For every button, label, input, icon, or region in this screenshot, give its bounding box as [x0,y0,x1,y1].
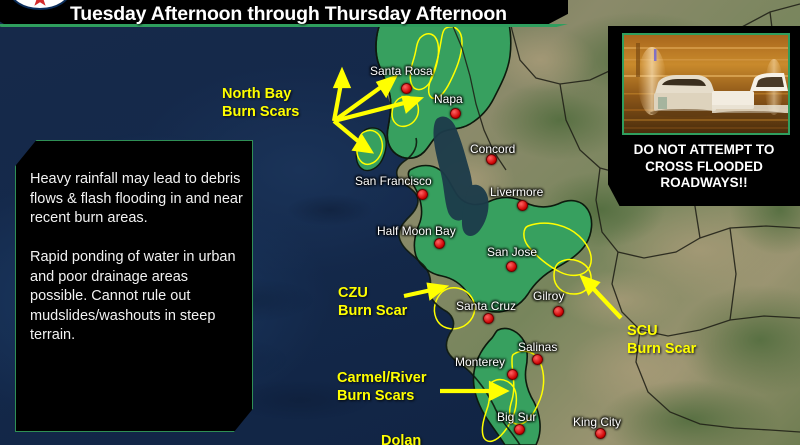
burn-scar-label-dolan: Dolan [381,433,421,445]
city-dot [514,424,525,435]
burn-scar-label-line1: CZU [338,284,407,302]
burn-scar-label-line2: Burn Scars [337,387,426,405]
city-dot [483,313,494,324]
city-label-san-jose: San Jose [487,245,537,259]
burn-scar-label-north-bay: North Bay Burn Scars [222,85,299,121]
flooded-roadway-photo [622,33,790,135]
city-dot [595,428,606,439]
burn-scar-label-line1: Carmel/River [337,369,426,387]
city-label-napa: Napa [434,92,463,106]
nws-logo-icon [6,0,74,22]
city-label-big-sur: Big Sur [497,410,536,424]
info-paragraph-1: Heavy rainfall may lead to debris flows … [30,170,245,229]
city-label-santa-rosa: Santa Rosa [370,64,433,78]
city-dot [532,354,543,365]
city-dot [417,189,428,200]
burn-scar-label-czu: CZU Burn Scar [338,284,407,320]
burn-scar-label-line2: Burn Scar [627,340,696,358]
city-label-san-francisco: San Francisco [355,174,432,188]
city-dot [506,261,517,272]
photo-caption: DO NOT ATTEMPT TO CROSS FLOODED ROADWAYS… [610,142,798,192]
city-label-king-city: King City [573,415,621,429]
info-paragraph-2: Rapid ponding of water in urban and poor… [30,248,245,346]
city-label-gilroy: Gilroy [533,289,564,303]
city-dot [517,200,528,211]
city-label-concord: Concord [470,142,515,156]
weather-graphic: Santa Rosa Napa Concord San Francisco Li… [0,0,800,445]
city-dot [553,306,564,317]
city-dot [450,108,461,119]
info-box-text: Heavy rainfall may lead to debris flows … [30,170,245,365]
burn-scar-label-scu: SCU Burn Scar [627,322,696,358]
city-dot [507,369,518,380]
burn-scar-label-line1: SCU [627,322,696,340]
city-label-half-moon-bay: Half Moon Bay [377,224,456,238]
burn-scar-label-line2: Burn Scars [222,103,299,121]
burn-scar-label-line2: Burn Scar [338,302,407,320]
flood-photo-image [624,35,788,133]
page-title: Tuesday Afternoon through Thursday After… [70,1,550,27]
city-label-santa-cruz: Santa Cruz [456,299,516,313]
city-label-salinas: Salinas [518,340,557,354]
burn-scar-label-line1: North Bay [222,85,299,103]
city-label-livermore: Livermore [490,185,543,199]
city-dot [401,83,412,94]
burn-scar-label-carmel-river: Carmel/River Burn Scars [337,369,426,405]
city-label-monterey: Monterey [455,355,505,369]
submerged-sedan [650,75,718,117]
city-dot [434,238,445,249]
